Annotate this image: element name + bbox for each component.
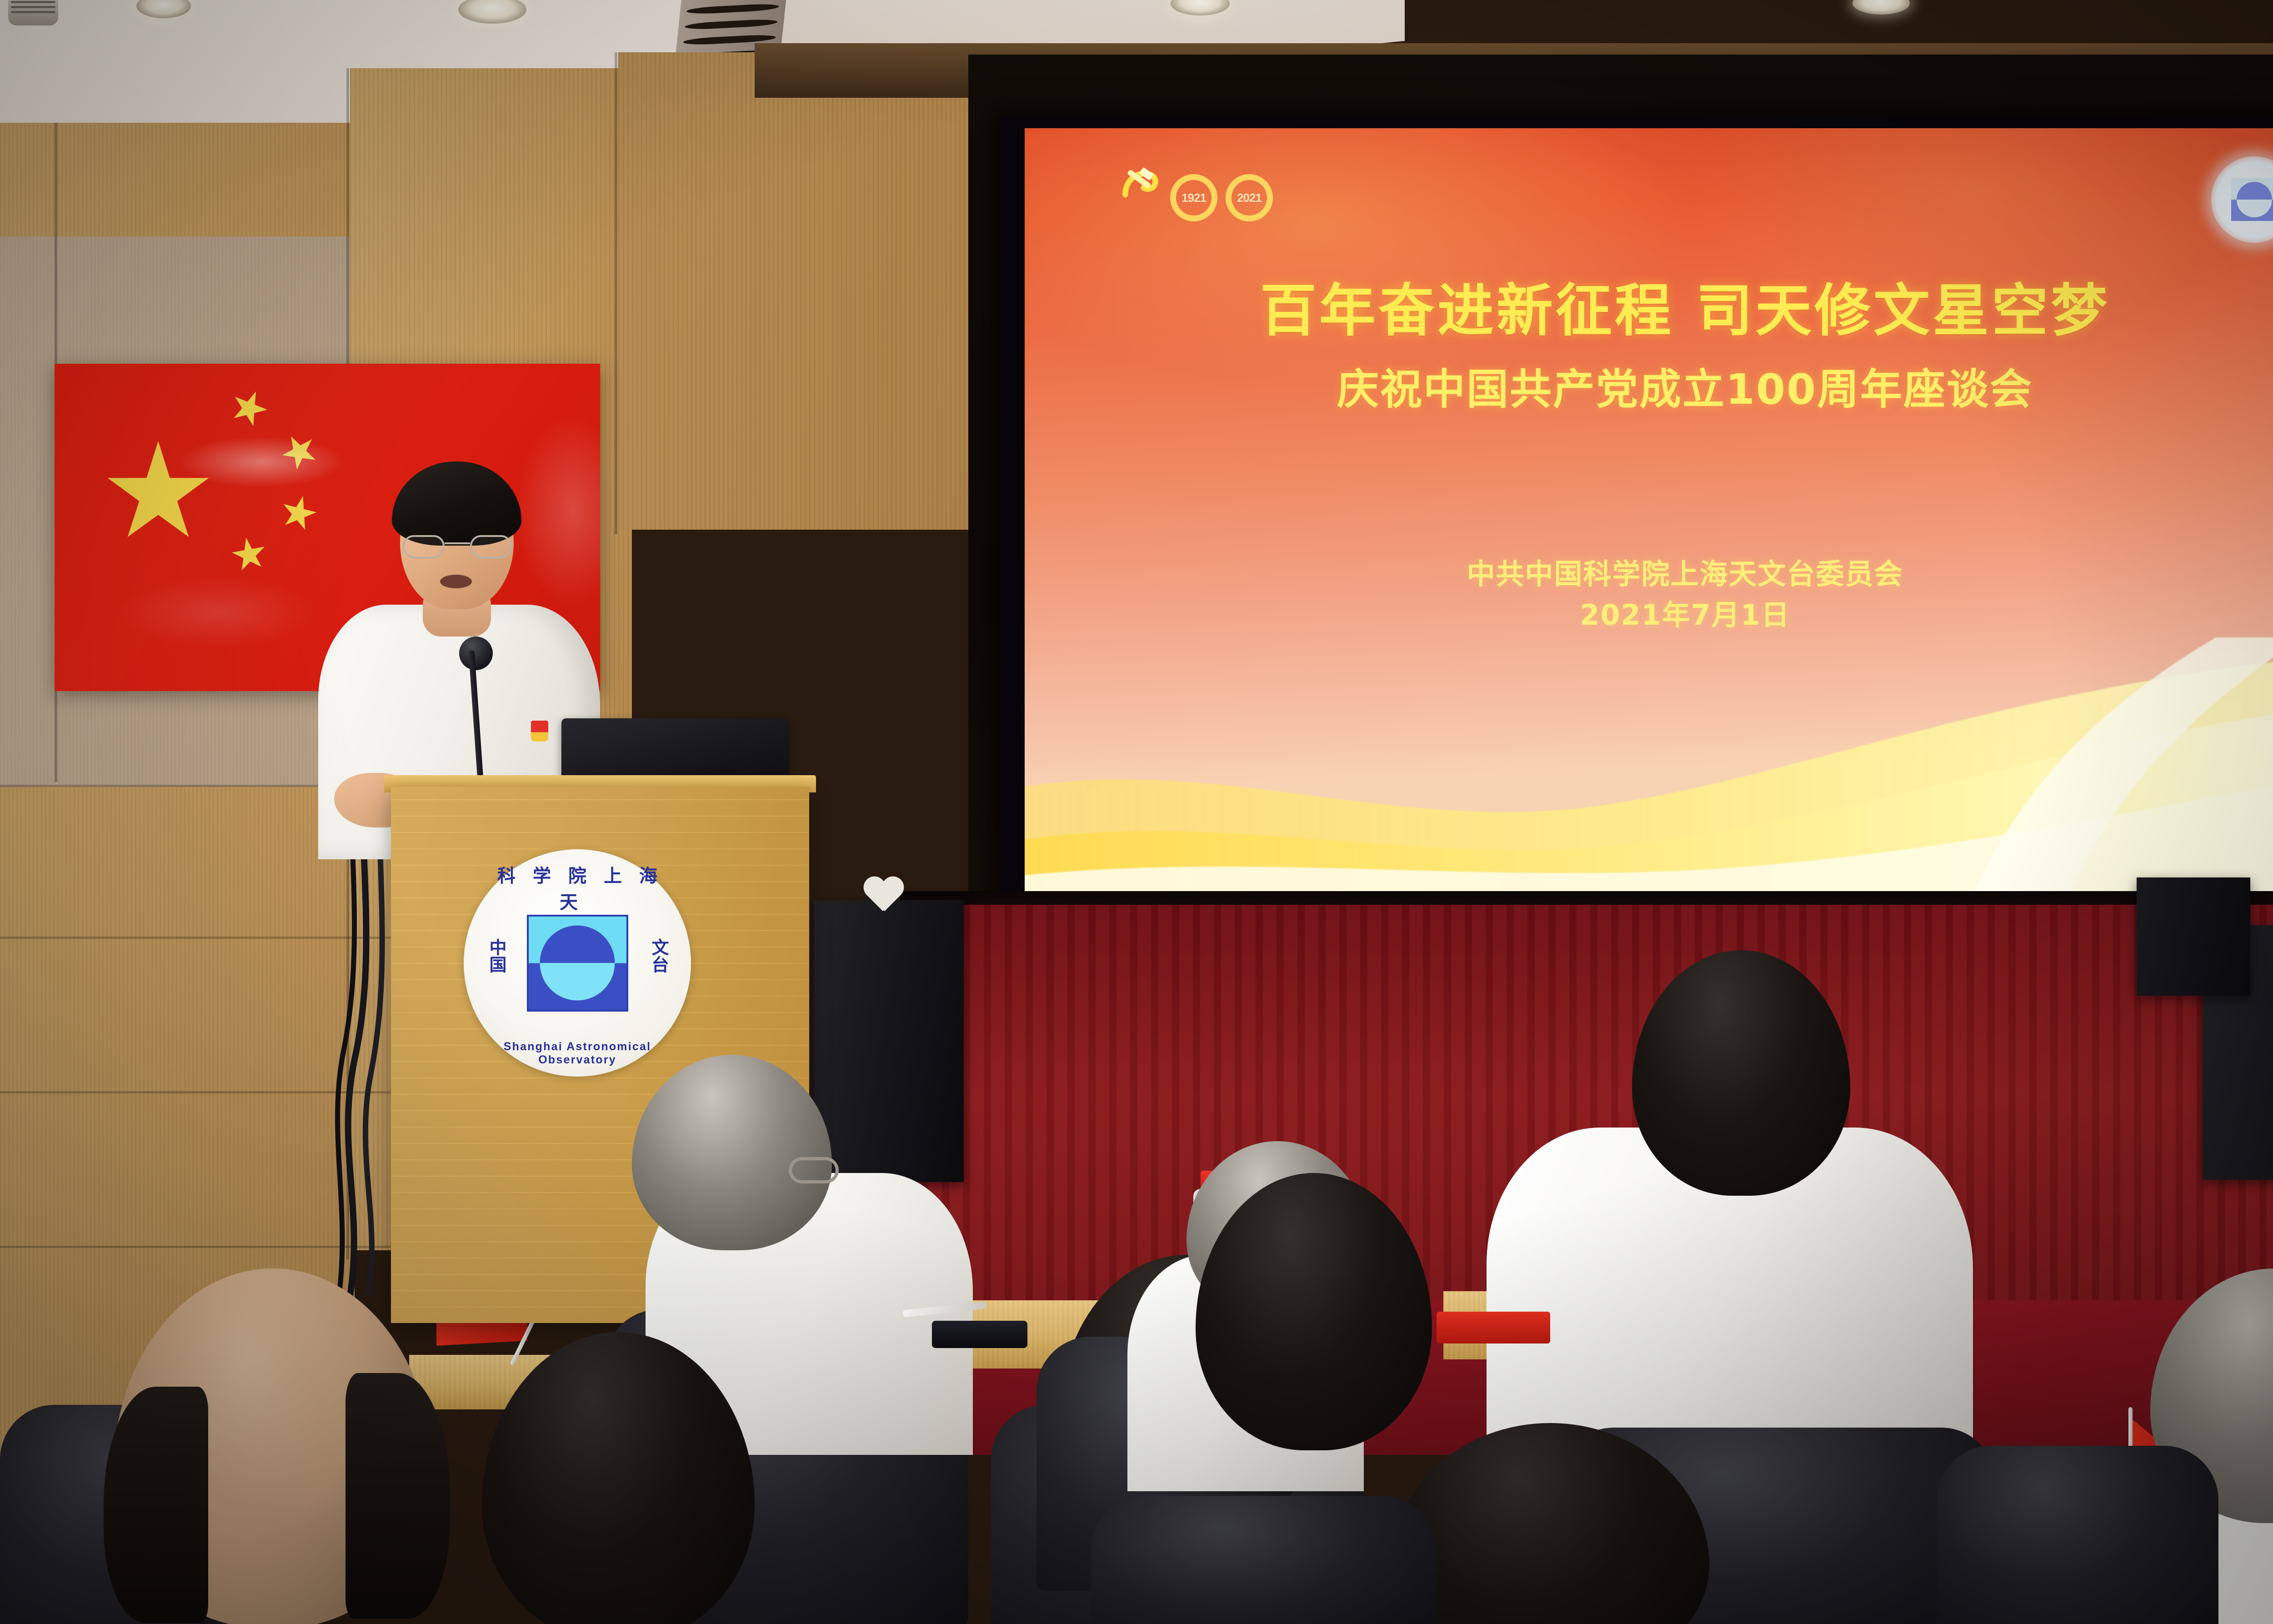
flag-star-small-3: [277, 492, 320, 535]
cpc-emblem-zero-2021: 2021: [1226, 174, 1273, 221]
slide-subtitle: 庆祝中国共产党成立100周年座谈会: [1025, 356, 2273, 416]
cpc-emblem-zero-1921: 1921: [1170, 174, 1217, 221]
glasses-bridge: [445, 542, 470, 544]
presenter-mouth: [440, 575, 472, 588]
podium-emblem-english-text: Shanghai Astronomical Observatory: [464, 1040, 691, 1067]
podium-emblem-chinese-right: 文台: [646, 938, 671, 973]
sao-logo-circle: [2237, 182, 2272, 217]
audience-glasses-mid-left: [789, 1157, 839, 1183]
hammer-and-sickle-icon: [1117, 163, 1161, 207]
wall-groove-vertical-3: [615, 52, 617, 534]
flag-star-large: [105, 441, 211, 546]
microphone-head-icon: [459, 637, 493, 670]
podium-emblem-chinese-left: 中国: [484, 938, 509, 973]
presenter-party-badge: [531, 721, 548, 742]
chair-far-right: [1937, 1446, 2218, 1624]
audience-hair-fringe-front-left-2: [345, 1373, 450, 1619]
phone-on-table: [932, 1321, 1027, 1348]
sao-logo-on-slide: [2211, 156, 2273, 243]
chair-far-right-2: [1091, 1496, 1437, 1624]
heart-decoration: [863, 877, 905, 917]
podium-emblem-square: [529, 917, 626, 1010]
flag-star-small-4: [229, 535, 269, 575]
smoke-detector-icon: [8, 0, 58, 25]
sao-logo-square: [2231, 178, 2273, 221]
red-booklet-on-table: [1437, 1312, 1550, 1343]
projection-screen: 1921 2021 百年奋进新征程 司天修文星空梦 庆祝中国共产党成立100周年…: [1025, 128, 2273, 892]
slide-date: 2021年7月1日: [1025, 592, 2273, 633]
podium-emblem-sao: 科学院上海天 中国 文台 Shanghai Astronomical Obser…: [464, 849, 691, 1077]
slide-wave-graphic: [1025, 610, 2273, 892]
loudspeaker-rear-right: [2137, 877, 2250, 996]
audience-hair-fringe-front-left: [104, 1387, 208, 1623]
flag-star-small-2: [275, 427, 325, 477]
presenter-glasses-icon: [403, 535, 512, 560]
podium-emblem-chinese-text: 科学院上海天: [464, 861, 691, 914]
podium-emblem-circle: [540, 926, 615, 1001]
ceiling-downlight-5: [1852, 0, 1910, 15]
slide-title: 百年奋进新征程 司天修文星空梦: [1025, 265, 2273, 346]
conference-hall-photo: 1921 2021 百年奋进新征程 司天修文星空梦 庆祝中国共产党成立100周年…: [0, 0, 2273, 1624]
slide-organization: 中共中国科学院上海天文台委员会: [1025, 551, 2273, 592]
flag-star-small-1: [225, 385, 273, 432]
cpc-100th-anniversary-emblem: 1921 2021: [1106, 153, 1270, 233]
loudspeaker-left: [814, 900, 964, 1182]
